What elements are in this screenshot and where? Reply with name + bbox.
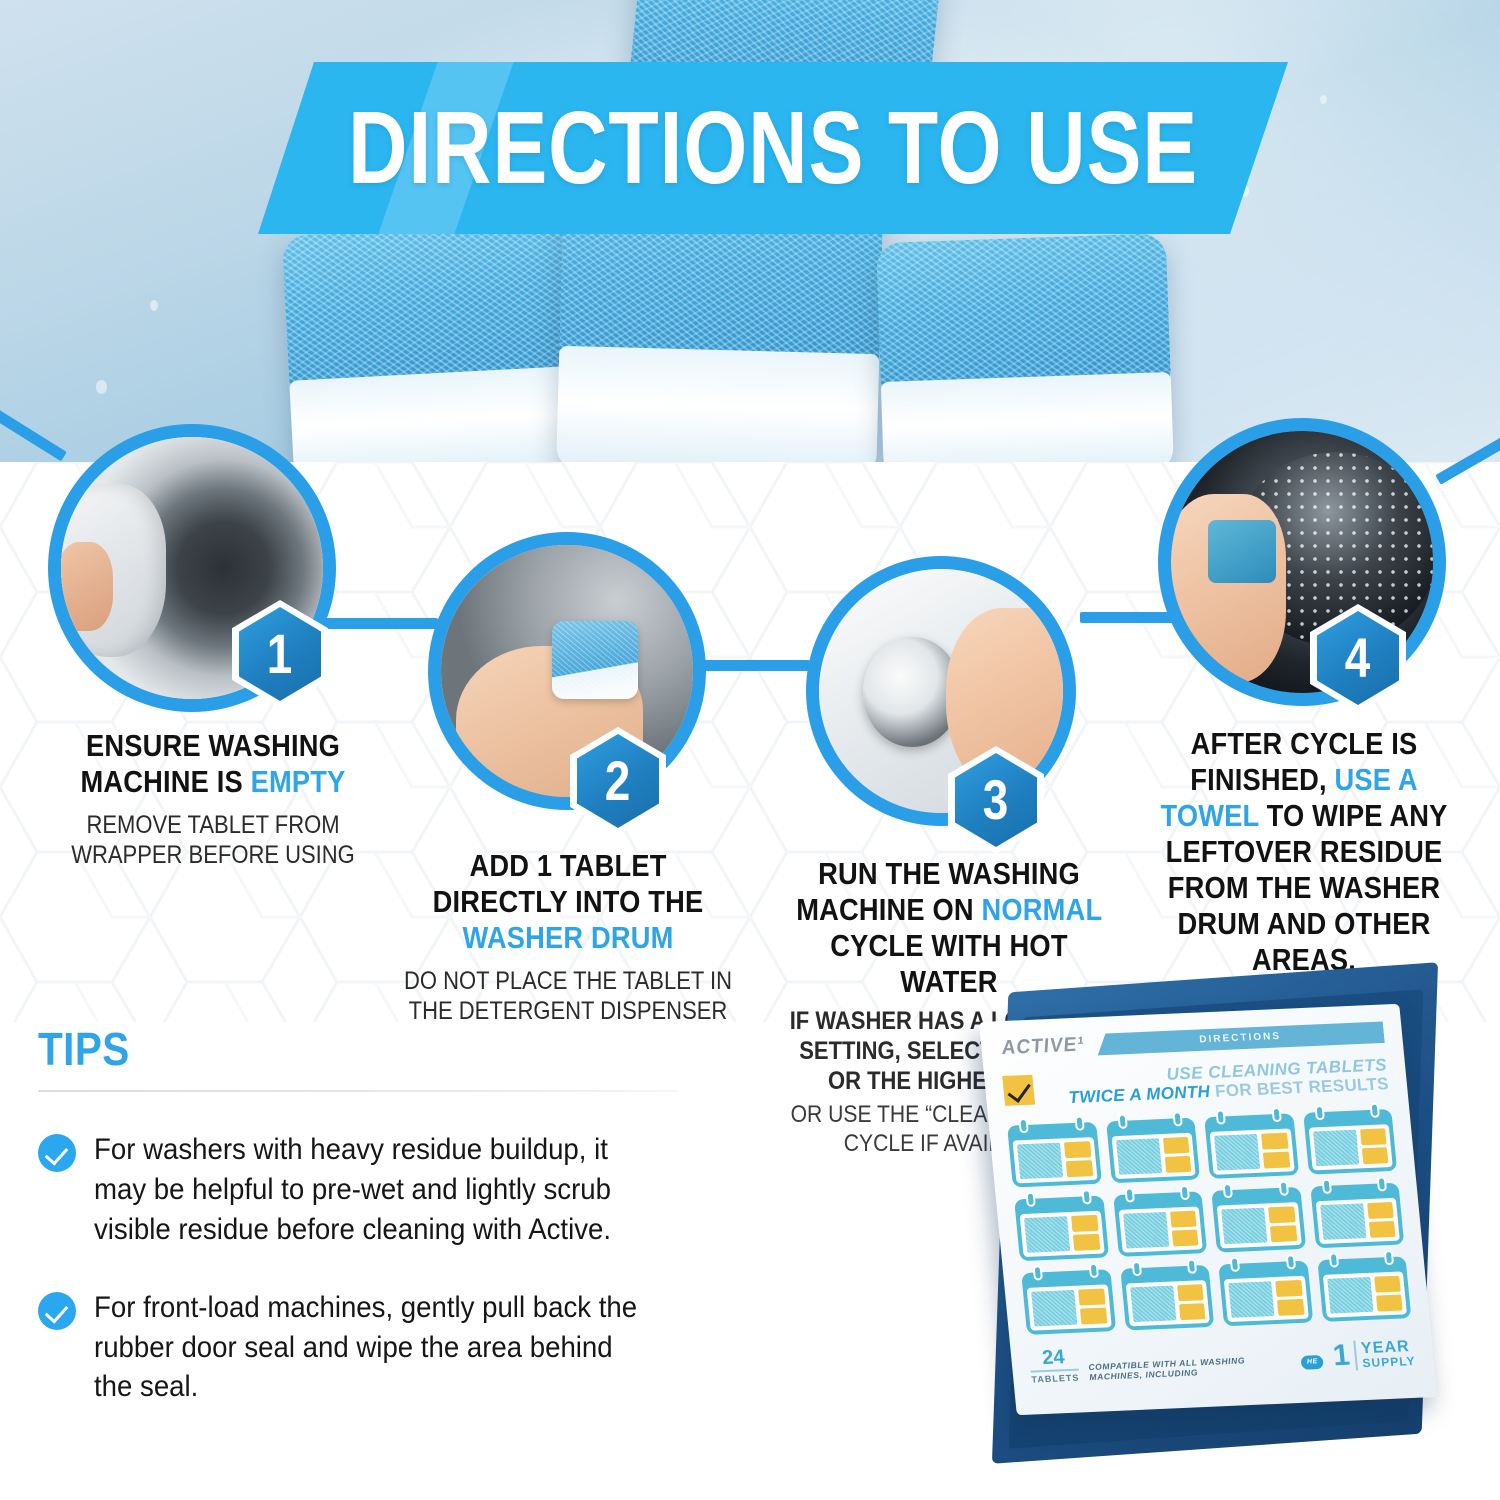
checkbox-checked-icon — [1002, 1075, 1035, 1106]
supply-number: 1 — [1332, 1342, 1351, 1370]
step-1-heading: ENSURE WASHING MACHINE IS EMPTY — [68, 728, 358, 800]
title-banner: DIRECTIONS TO USE — [258, 62, 1288, 234]
directions-insert-card: ACTIVE¹ DIRECTIONS USE CLEANING TABLETS … — [979, 1004, 1437, 1416]
directions-bar-label: DIRECTIONS — [1199, 1031, 1282, 1046]
step-2-number: 2 — [605, 753, 631, 809]
tips-section: TIPS For washers with heavy residue buil… — [38, 1022, 698, 1407]
he-certification-icon: HE — [1301, 1354, 1324, 1369]
tip-text: For front-load machines, gently pull bac… — [94, 1288, 650, 1408]
calendar-icon — [1218, 1261, 1312, 1327]
step-2-number-badge: 2 — [570, 727, 666, 835]
step-4-number: 4 — [1345, 630, 1371, 686]
tip-text: For washers with heavy residue buildup, … — [94, 1130, 650, 1250]
calendar-icon — [1211, 1187, 1305, 1253]
checkmark-icon — [38, 1292, 76, 1330]
step-1-subtext: REMOVE TABLET FROM WRAPPER BEFORE USING — [68, 810, 358, 870]
step-1-number-badge: 1 — [232, 600, 328, 708]
step-1-heading-highlight: EMPTY — [251, 764, 346, 799]
calendar-icon — [1014, 1196, 1108, 1262]
connector-line-2-3 — [700, 660, 810, 671]
tablet-count-label: TABLETS — [1031, 1372, 1080, 1384]
supply-duration-block: 1 YEAR SUPPLY — [1332, 1338, 1417, 1371]
step-2-text: ADD 1 TABLET DIRECTLY INTO THE WASHER DR… — [378, 848, 758, 1026]
step-1-number: 1 — [267, 626, 293, 682]
step-2-heading: ADD 1 TABLET DIRECTLY INTO THE WASHER DR… — [401, 848, 735, 956]
water-droplet — [150, 300, 158, 311]
step-3-number-badge: 3 — [948, 746, 1044, 854]
product-box-photo: ACTIVE¹ DIRECTIONS USE CLEANING TABLETS … — [880, 960, 1500, 1500]
tips-divider — [38, 1090, 678, 1092]
step-4-number-badge: 4 — [1310, 604, 1406, 712]
calendar-icon — [1113, 1191, 1207, 1257]
tablet-count-number: 24 — [1029, 1347, 1079, 1369]
page-title: DIRECTIONS TO USE — [361, 62, 1185, 234]
step-3-number: 3 — [983, 772, 1009, 828]
card-directions-text: USE CLEANING TABLETS TWICE A MONTH FOR B… — [1042, 1055, 1390, 1108]
step-4-text: AFTER CYCLE IS FINISHED, USE A TOWEL TO … — [1118, 726, 1490, 978]
step-2-heading-highlight: WASHER DRUM — [462, 920, 673, 955]
blue-towel-icon — [1208, 520, 1276, 583]
calendar-icon — [1106, 1118, 1200, 1184]
calendar-icon — [1310, 1183, 1404, 1249]
tips-heading: TIPS — [38, 1022, 619, 1076]
step-4-heading: AFTER CYCLE IS FINISHED, USE A TOWEL TO … — [1140, 726, 1467, 978]
step-2-subtext: DO NOT PLACE THE TABLET IN THE DETERGENT… — [401, 966, 735, 1026]
compatibility-text: COMPATIBLE WITH ALL WASHING MACHINES, IN… — [1088, 1353, 1297, 1382]
tablet-count-block: 24 TABLETS — [1029, 1347, 1080, 1384]
tip-item: For front-load machines, gently pull bac… — [38, 1288, 698, 1408]
calendar-icon — [1303, 1109, 1397, 1175]
card-directions-row: USE CLEANING TABLETS TWICE A MONTH FOR B… — [1002, 1055, 1390, 1110]
calendar-icon — [1120, 1265, 1214, 1331]
hero-banner: DIRECTIONS TO USE — [0, 0, 1500, 470]
connector-line-1-2 — [318, 618, 438, 629]
calendar-icon — [1021, 1269, 1115, 1335]
water-droplet — [1320, 95, 1327, 104]
supply-word-label: SUPPLY — [1362, 1354, 1416, 1368]
checkmark-icon — [38, 1134, 76, 1172]
step-3-heading-highlight: NORMAL — [982, 892, 1102, 927]
calendar-icon — [1007, 1122, 1101, 1188]
water-droplet — [96, 380, 107, 394]
compatibility-note: COMPATIBLE WITH ALL WASHING MACHINES, IN… — [1088, 1352, 1325, 1382]
calendar-grid — [1007, 1109, 1411, 1335]
tablet-photo-left — [282, 220, 595, 470]
active-brand-logo: ACTIVE¹ — [1001, 1033, 1085, 1060]
calendar-icon — [1317, 1256, 1411, 1322]
card-header-row: ACTIVE¹ DIRECTIONS — [999, 1020, 1385, 1060]
calendar-icon — [1204, 1113, 1298, 1179]
directions-bar: DIRECTIONS — [1096, 1021, 1385, 1055]
step-1-text: ENSURE WASHING MACHINE IS EMPTY REMOVE T… — [48, 728, 378, 870]
tablet-photo-right — [876, 233, 1174, 470]
tip-item: For washers with heavy residue buildup, … — [38, 1130, 698, 1250]
card-footer-row: 24 TABLETS COMPATIBLE WITH ALL WASHING M… — [1029, 1332, 1417, 1384]
step-2-heading-before: ADD 1 TABLET DIRECTLY INTO THE — [433, 848, 704, 919]
